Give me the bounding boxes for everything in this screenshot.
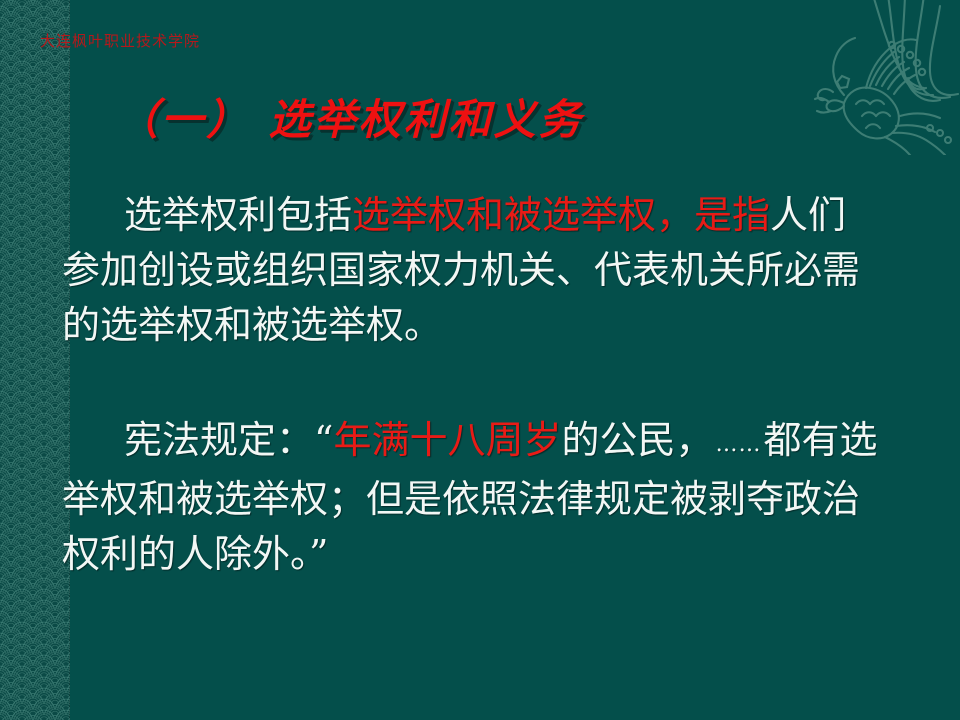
slide-canvas: 大连枫叶职业技术学院 （一） 选举权利和义务 选举权利包括选举权和被选举权，是指… xyxy=(0,0,960,720)
paragraph-2-open-quote: “ xyxy=(314,418,333,462)
paragraph-2-close-quote: ” xyxy=(309,532,328,576)
paragraph-2-run-1: 宪法规定： xyxy=(124,418,314,462)
paragraph-1-run-1: 选举权利包括 xyxy=(124,193,352,237)
paragraph-1-run-2-highlight: 选举权和被选举权，是指 xyxy=(352,193,770,237)
organization-name: 大连枫叶职业技术学院 xyxy=(40,30,200,51)
left-band-pattern-overlay xyxy=(0,0,70,720)
paragraph-2-run-3-highlight: 年满十八周岁 xyxy=(333,418,561,462)
phoenix-ornament-icon xyxy=(800,0,960,155)
body-paragraph-2: 宪法规定：“年满十八周岁的公民，……都有选举权和被选举权；但是依照法律规定被剥夺… xyxy=(62,413,882,582)
paragraph-2-run-4: 的公民， xyxy=(561,418,713,462)
body-paragraph-1: 选举权利包括选举权和被选举权，是指人们参加创设或组织国家权力机关、代表机关所必需… xyxy=(62,188,882,353)
slide-title: （一） 选举权利和义务 xyxy=(116,86,584,147)
left-decorative-band xyxy=(0,0,70,720)
paragraph-2-ellipsis: …… xyxy=(713,432,763,457)
